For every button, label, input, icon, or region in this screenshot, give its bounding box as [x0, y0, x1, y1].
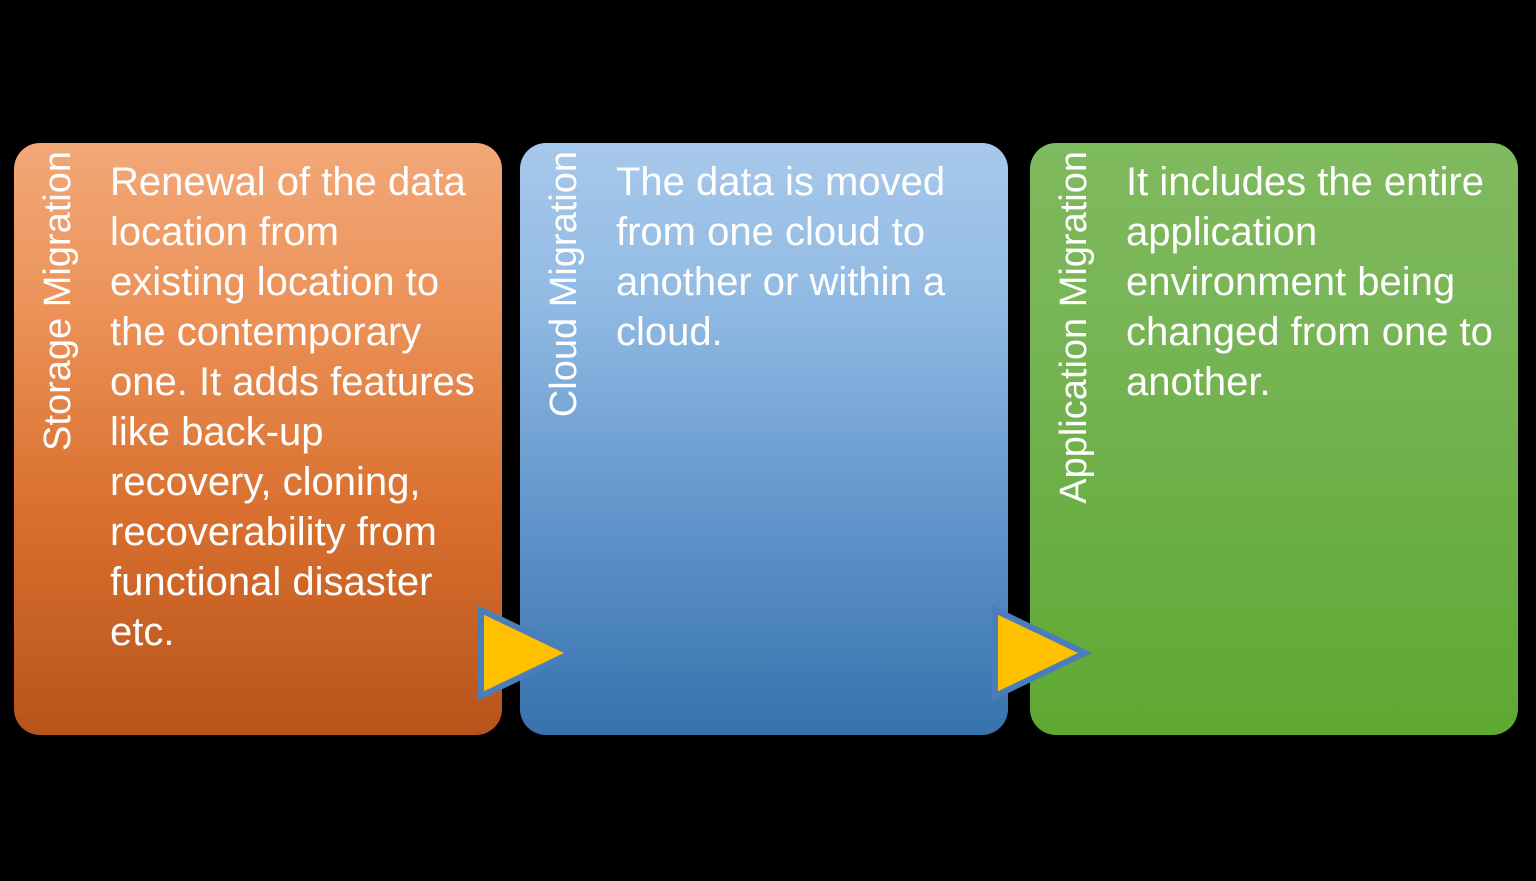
- arrow-right-triangle-icon-cloud-to-application: [991, 606, 1089, 700]
- stage-card-application-migration[interactable]: Application Migration It includes the en…: [1030, 143, 1518, 735]
- stage-card-storage-migration[interactable]: Storage Migration Renewal of the data lo…: [14, 143, 502, 735]
- stage-card-cloud-migration[interactable]: Cloud Migration The data is moved from o…: [520, 143, 1008, 735]
- arrow-right-triangle-icon-storage-to-cloud: [477, 606, 575, 700]
- stage-body-storage-migration: Renewal of the data location from existi…: [110, 157, 480, 657]
- diagram-canvas: Storage Migration Renewal of the data lo…: [0, 0, 1536, 881]
- stage-label-storage-migration: Storage Migration: [14, 143, 102, 735]
- stage-body-application-migration: It includes the entire application envir…: [1126, 157, 1496, 407]
- stage-body-cloud-migration: The data is moved from one cloud to anot…: [616, 157, 986, 357]
